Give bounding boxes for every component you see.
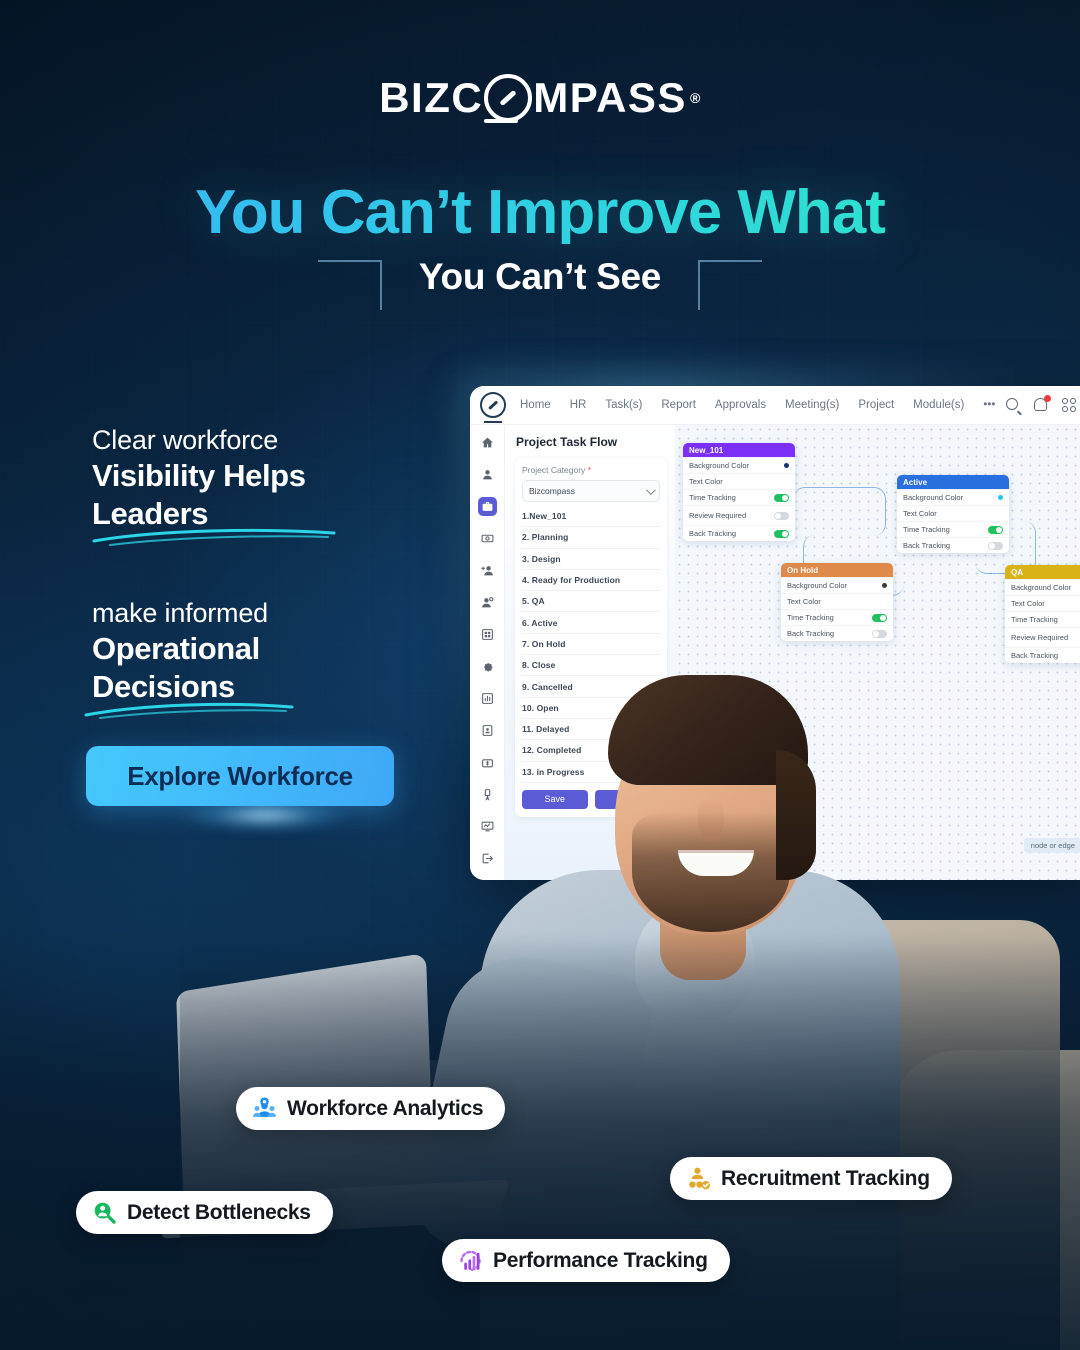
hero-subheadline-wrap: You Can’t See [0,252,1080,314]
canvas-hint: node or edge [1024,838,1080,853]
briefcase-icon[interactable] [478,497,497,516]
back-tracking-toggle[interactable] [774,530,789,538]
nav-item-home[interactable]: Home [520,399,551,411]
copy-block-1: Clear workforce Visibility Helps Leaders [92,424,422,533]
user-settings-icon[interactable] [478,593,497,612]
review-required-toggle[interactable] [774,512,789,520]
app-topbar-actions [1006,398,1080,412]
brand-logo: BIZC MPASS ® [0,74,1080,122]
nav-item-project[interactable]: Project [858,399,894,411]
hero-headline: You Can’t Improve What [0,182,1080,244]
node-header: On Hold [781,563,893,577]
flow-node[interactable]: QA Background Color Text Color Time Trac… [1005,565,1080,663]
feature-chip-label: Workforce Analytics [287,1097,483,1121]
copy-block-2: make informed Operational Decisions [92,597,422,706]
people-gear-icon [252,1096,277,1121]
nav-item-report[interactable]: Report [661,399,696,411]
home-icon[interactable] [478,433,497,452]
brand-name-part2: MPASS [533,74,687,122]
list-item[interactable]: 8. Close [522,655,660,676]
time-tracking-toggle[interactable] [774,494,789,502]
flow-edge [793,487,886,536]
node-row-back-tracking[interactable]: Back Tracking [683,525,795,541]
node-row-review-required[interactable]: Review Required [1005,627,1080,647]
money-icon[interactable] [478,529,497,548]
feature-chip-detect-bottlenecks[interactable]: Detect Bottlenecks [76,1191,333,1234]
user-icon[interactable] [478,465,497,484]
panel-title: Project Task Flow [516,435,667,449]
node-row-background-color[interactable]: Background Color [781,577,893,593]
project-category-label: Project Category * [522,465,660,475]
app-nav: Home HR Task(s) Report Approvals Meeting… [520,399,995,411]
node-row-text-color[interactable]: Text Color [781,593,893,609]
color-dot [998,495,1003,500]
app-topbar: Home HR Task(s) Report Approvals Meeting… [470,386,1080,425]
list-item[interactable]: 13. in Progress [522,762,660,783]
node-header: New_101 [683,443,795,457]
brand-name-part1: BIZC [379,74,483,122]
app-mockup: Home HR Task(s) Report Approvals Meeting… [470,386,1080,880]
grid-icon[interactable] [478,625,497,644]
node-row-text-color[interactable]: Text Color [1005,595,1080,611]
task-status-list: 1.New_101 2. Planning 3. Design 4. Ready… [522,506,660,783]
list-item[interactable]: 3. Design [522,549,660,570]
nav-item-hr[interactable]: HR [570,399,587,411]
copy1-line2: Visibility Helps [92,457,306,495]
flow-node[interactable]: On Hold Background Color Text Color Time… [781,563,893,641]
node-row-time-tracking[interactable]: Time Tracking [781,609,893,625]
chevron-down-icon [646,485,656,495]
app-body: Project Task Flow Project Category * Biz… [470,425,1080,880]
explore-workforce-button[interactable]: Explore Workforce [86,746,394,806]
compass-icon [480,392,506,418]
logout-icon[interactable] [478,849,497,868]
save-button[interactable]: Save [522,790,588,809]
node-row-text-color[interactable]: Text Color [897,505,1009,521]
node-row-back-tracking[interactable]: Back Tracking [897,537,1009,553]
copy2-line1: make informed [92,597,422,630]
nav-item-meetings[interactable]: Meeting(s) [785,399,839,411]
list-item[interactable]: 11. Delayed [522,719,660,740]
logo-underline [484,119,518,123]
nav-item-approvals[interactable]: Approvals [715,399,766,411]
node-row-back-tracking[interactable]: Back Tracking [1005,647,1080,663]
flow-node[interactable]: New_101 Background Color Text Color Time… [683,443,795,541]
list-item[interactable]: 4. Ready for Production [522,570,660,591]
node-row-review-required[interactable]: Review Required [683,505,795,525]
node-header: QA [1005,565,1080,579]
bar-chart-icon [458,1248,483,1273]
node-row-time-tracking[interactable]: Time Tracking [683,489,795,505]
node-row-background-color[interactable]: Background Color [897,489,1009,505]
nav-item-tasks[interactable]: Task(s) [605,399,642,411]
feature-chip-performance-tracking[interactable]: Performance Tracking [442,1239,730,1282]
gear-icon[interactable] [478,657,497,676]
node-row-time-tracking[interactable]: Time Tracking [1005,611,1080,627]
flow-node[interactable]: Active Background Color Text Color Time … [897,475,1009,553]
feature-chip-label: Detect Bottlenecks [127,1201,311,1225]
add-user-icon[interactable] [478,561,497,580]
project-task-flow-panel: Project Task Flow Project Category * Biz… [505,425,675,880]
notification-badge [1044,395,1051,402]
feature-chip-recruitment-tracking[interactable]: Recruitment Tracking [670,1157,952,1200]
time-tracking-toggle[interactable] [872,614,887,622]
monitor-chart-icon[interactable] [478,817,497,836]
required-marker: * [588,465,591,475]
list-item[interactable]: 10. Open [522,698,660,719]
briefcase-dollar-icon[interactable] [478,753,497,772]
time-tracking-toggle[interactable] [988,526,1003,534]
node-header: Active [897,475,1009,489]
apps-grid-icon[interactable] [1062,398,1076,412]
list-item[interactable]: 2. Planning [522,527,660,548]
bottom-fade [0,930,1080,1350]
list-item[interactable]: 7. On Hold [522,634,660,655]
copy1-line1: Clear workforce [92,424,422,457]
app-sidebar-rail [470,425,505,880]
feature-chip-label: Recruitment Tracking [721,1167,930,1191]
copy-button[interactable]: Copy [595,790,661,809]
flow-canvas[interactable]: New_101 Background Color Text Color Time… [675,425,1080,880]
panel-actions: Save Copy [522,790,660,809]
id-card-icon[interactable] [478,721,497,740]
compass-icon [484,74,532,122]
node-row-back-tracking[interactable]: Back Tracking [781,625,893,641]
list-item[interactable]: 1.New_101 [522,506,660,527]
feature-chip-label: Performance Tracking [493,1249,708,1273]
registered-mark: ® [690,90,701,106]
color-dot [784,463,789,468]
color-dot [882,583,887,588]
award-icon[interactable] [478,785,497,804]
bell-icon[interactable] [1034,398,1048,412]
bar-chart-icon[interactable] [478,689,497,708]
hero-subheadline: You Can’t See [0,256,1080,298]
list-item[interactable]: 9. Cancelled [522,676,660,697]
panel-card: Project Category * Bizcompass 1.New_101 … [515,458,667,817]
list-item[interactable]: 6. Active [522,612,660,633]
person-check-icon [686,1166,711,1191]
feature-chip-workforce-analytics[interactable]: Workforce Analytics [236,1087,505,1130]
list-item[interactable]: 5. QA [522,591,660,612]
node-row-background-color[interactable]: Background Color [683,457,795,473]
node-row-text-color[interactable]: Text Color [683,473,795,489]
copy2-line2: Operational [92,630,260,668]
search-person-icon [92,1200,117,1225]
copy1-line3: Leaders [92,495,208,533]
back-tracking-toggle[interactable] [872,630,887,638]
list-item[interactable]: 12. Completed [522,740,660,761]
project-category-value: Bizcompass [529,486,575,496]
nav-item-modules[interactable]: Module(s) [913,399,964,411]
node-row-background-color[interactable]: Background Color [1005,579,1080,595]
back-tracking-toggle[interactable] [988,542,1003,550]
search-icon[interactable] [1006,398,1020,412]
node-row-time-tracking[interactable]: Time Tracking [897,521,1009,537]
copy2-line3: Decisions [92,668,235,706]
nav-overflow-button[interactable]: ••• [983,399,995,411]
project-category-select[interactable]: Bizcompass [522,480,660,502]
